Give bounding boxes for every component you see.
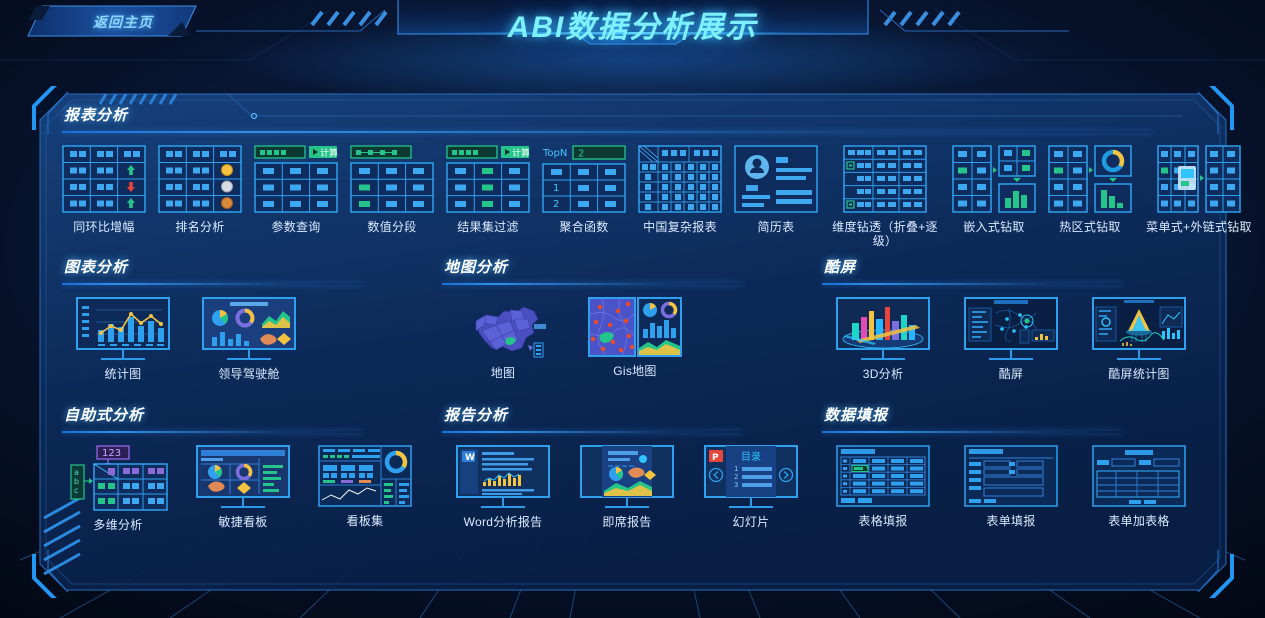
card-label: 简历表	[734, 220, 818, 234]
section-title: 自助式分析	[64, 404, 442, 425]
card-dashboard-collection[interactable]: 看板集	[318, 445, 412, 528]
form-fill-icon	[964, 445, 1058, 507]
card-map[interactable]: 地图	[456, 297, 550, 380]
table-value-segment-icon	[350, 145, 434, 213]
menu-link-drill-icon	[1157, 145, 1241, 213]
card-complex-report[interactable]: 中国复杂报表	[638, 145, 722, 234]
card-adhoc-report[interactable]: 即席报告	[580, 445, 674, 529]
card-list: 123 a b c	[62, 445, 442, 532]
card-embedded-drill[interactable]: 嵌入式钻取	[952, 145, 1036, 234]
card-gis-map[interactable]: Gis地图	[588, 297, 682, 378]
toc-title: 目录	[741, 451, 761, 463]
card-label: 多维分析	[76, 518, 160, 532]
table-topn-icon: TopN 2	[542, 145, 626, 213]
app-header: 返回主页 ABI数据分析展示	[0, 0, 1265, 58]
monitor-base	[221, 506, 265, 508]
monitor-stand	[502, 498, 504, 506]
word-badge: W	[465, 453, 475, 463]
hotspot-drill-icon	[1048, 145, 1132, 213]
section-title: 报表分析	[64, 104, 1254, 125]
svg-text:b: b	[74, 477, 79, 486]
section-rule	[822, 283, 1122, 285]
card-label: 统计图	[81, 367, 165, 381]
card-label: 中国复杂报表	[638, 220, 722, 234]
table-complex-icon	[638, 145, 722, 213]
dashboard-collection-icon	[318, 445, 412, 507]
card-label: 敏捷看板	[201, 515, 285, 529]
monitor-3d-city-icon	[836, 297, 930, 360]
monitor-base	[989, 358, 1033, 360]
card-label: 即席报告	[585, 515, 669, 529]
monitor-stand	[1010, 350, 1012, 358]
monitor-stand	[626, 498, 628, 506]
table-drill-dimension-icon	[843, 145, 927, 213]
card-label: 看板集	[323, 514, 407, 528]
card-label: Word分析报告	[461, 515, 545, 529]
svg-text:c: c	[74, 486, 78, 495]
card-label: 酷屏统计图	[1097, 367, 1181, 381]
monitor-stand	[122, 350, 124, 358]
svg-text:2: 2	[553, 199, 559, 210]
card-list: W	[442, 445, 822, 529]
card-list: 地图	[442, 297, 822, 380]
monitor-base	[227, 358, 271, 360]
card-dimension-drill[interactable]: 维度钻透（折叠+逐级）	[830, 145, 940, 248]
monitor-stand	[1138, 350, 1140, 358]
section-rule	[822, 431, 1122, 433]
card-value-segment[interactable]: 数值分段	[350, 145, 434, 234]
monitor-dashboard-icon	[202, 297, 296, 360]
card-label: 领导驾驶舱	[207, 367, 291, 381]
card-label: 数值分段	[350, 220, 434, 234]
card-label: 幻灯片	[709, 515, 793, 529]
monitor-stand	[882, 350, 884, 358]
topn-value: 2	[578, 149, 584, 160]
card-multidimensional-analysis[interactable]: 123 a b c	[68, 445, 168, 532]
svg-text:3: 3	[734, 481, 738, 489]
card-label: 3D分析	[841, 367, 925, 381]
form-plus-grid-icon	[1092, 445, 1186, 507]
section-report-reporting: 报告分析 W	[442, 404, 822, 532]
card-label: 结果集过滤	[446, 220, 530, 234]
monitor-coolscreen-icon	[964, 297, 1058, 360]
monitor-stand	[248, 350, 250, 358]
monitor-base	[605, 506, 649, 508]
section-rule	[62, 431, 362, 433]
card-statistics-chart[interactable]: 统计图	[76, 297, 170, 381]
section-data-filling: 数据填报	[822, 404, 1202, 532]
gis-map-icon	[588, 297, 682, 357]
page-title: ABI数据分析展示	[0, 2, 1265, 46]
monitor-adhoc-report-icon	[580, 445, 674, 508]
card-parameter-query[interactable]: 计算	[254, 145, 338, 234]
card-list: 同环比增幅	[62, 145, 1254, 248]
resume-card-icon	[734, 145, 818, 213]
section-self-service-analysis: 自助式分析 123 a b c	[62, 404, 442, 532]
section-cool-screen: 酷屏	[822, 256, 1202, 381]
monitor-bar-line-chart-icon	[76, 297, 170, 360]
section-title: 地图分析	[444, 256, 822, 277]
section-title: 报告分析	[444, 404, 822, 425]
section-title: 数据填报	[824, 404, 1202, 425]
svg-text:1: 1	[553, 183, 559, 194]
card-result-filter[interactable]: 计算	[446, 145, 530, 234]
card-form-fill[interactable]: 表单填报	[964, 445, 1058, 528]
card-list: 统计图	[62, 297, 442, 381]
monitor-slides-icon: P 目录 1 2 3	[704, 445, 798, 508]
section-rule	[442, 431, 742, 433]
monitor-stand	[242, 498, 244, 506]
china-map-icon	[456, 299, 550, 359]
section-report-analysis: 报表分析	[62, 104, 1254, 248]
card-slides[interactable]: P 目录 1 2 3	[704, 445, 798, 529]
table-param-query-icon: 计算	[254, 145, 338, 213]
card-label: 参数查询	[254, 220, 338, 234]
card-cool-screen-chart[interactable]: 酷屏统计图	[1092, 297, 1186, 381]
monitor-coolscreen-chart-icon	[1092, 297, 1186, 360]
monitor-base	[729, 506, 773, 508]
svg-text:计算: 计算	[512, 147, 530, 159]
olap-cube-icon: 123 a b c	[68, 445, 168, 511]
card-agile-dashboard[interactable]: 敏捷看板	[196, 445, 290, 529]
svg-text:1: 1	[734, 465, 738, 473]
monitor-base	[1117, 358, 1161, 360]
section-rule	[442, 283, 742, 285]
card-label: 表单加表格	[1097, 514, 1181, 528]
card-list: 3D分析	[822, 297, 1202, 381]
card-label: 聚合函数	[542, 220, 626, 234]
card-aggregate-function[interactable]: TopN 2	[542, 145, 626, 234]
section-title: 图表分析	[64, 256, 442, 277]
card-label: 酷屏	[969, 367, 1053, 381]
monitor-agile-dashboard-icon	[196, 445, 290, 508]
grid-fill-icon	[836, 445, 930, 507]
card-word-report[interactable]: W	[456, 445, 550, 529]
card-hotspot-drill[interactable]: 热区式钻取	[1048, 145, 1132, 234]
section-chart-analysis: 图表分析	[62, 256, 442, 381]
card-grid-fill[interactable]: 表格填报	[836, 445, 930, 528]
main-panel: 报表分析	[22, 86, 1244, 596]
table-medals-icon	[158, 145, 242, 213]
panel-content: 报表分析	[62, 104, 1204, 578]
monitor-base	[481, 506, 525, 508]
card-label: 排名分析	[158, 220, 242, 234]
monitor-base	[101, 358, 145, 360]
topn-label: TopN	[542, 148, 567, 159]
svg-text:2: 2	[734, 473, 738, 481]
monitor-word-report-icon: W	[456, 445, 550, 508]
card-form-plus-grid[interactable]: 表单加表格	[1092, 445, 1186, 528]
card-label: 同环比增幅	[62, 220, 146, 234]
card-label: 表格填报	[841, 514, 925, 528]
card-label: 维度钻透（折叠+逐级）	[830, 220, 940, 248]
section-rule	[62, 131, 1152, 133]
table-arrows-icon	[62, 145, 146, 213]
embedded-drill-icon	[952, 145, 1036, 213]
card-resume-table[interactable]: 简历表	[734, 145, 818, 234]
card-label: 热区式钻取	[1048, 220, 1132, 234]
monitor-stand	[750, 498, 752, 506]
tag-number: 123	[102, 448, 121, 459]
card-3d-analysis[interactable]: 3D分析	[836, 297, 930, 381]
card-ranking-analysis[interactable]: 排名分析	[158, 145, 242, 234]
svg-text:a: a	[74, 468, 79, 477]
monitor-base	[861, 358, 905, 360]
card-label: 表单填报	[969, 514, 1053, 528]
card-tongbihuanbi[interactable]: 同环比增幅	[62, 145, 146, 234]
svg-text:计算: 计算	[320, 147, 338, 159]
ppt-badge: P	[712, 453, 719, 463]
card-label: 嵌入式钻取	[952, 220, 1036, 234]
section-title: 酷屏	[824, 256, 1202, 277]
card-cool-screen[interactable]: 酷屏	[964, 297, 1058, 381]
card-label: 地图	[461, 366, 545, 380]
card-label: Gis地图	[593, 364, 677, 378]
section-rule	[62, 283, 362, 285]
card-menu-link-drill[interactable]: 菜单式+外链式钻取	[1144, 145, 1254, 234]
table-result-filter-icon: 计算	[446, 145, 530, 213]
card-list: 表格填报	[822, 445, 1202, 528]
card-leader-cockpit[interactable]: 领导驾驶舱	[202, 297, 296, 381]
section-map-analysis: 地图分析	[442, 256, 822, 381]
card-label: 菜单式+外链式钻取	[1144, 220, 1254, 234]
